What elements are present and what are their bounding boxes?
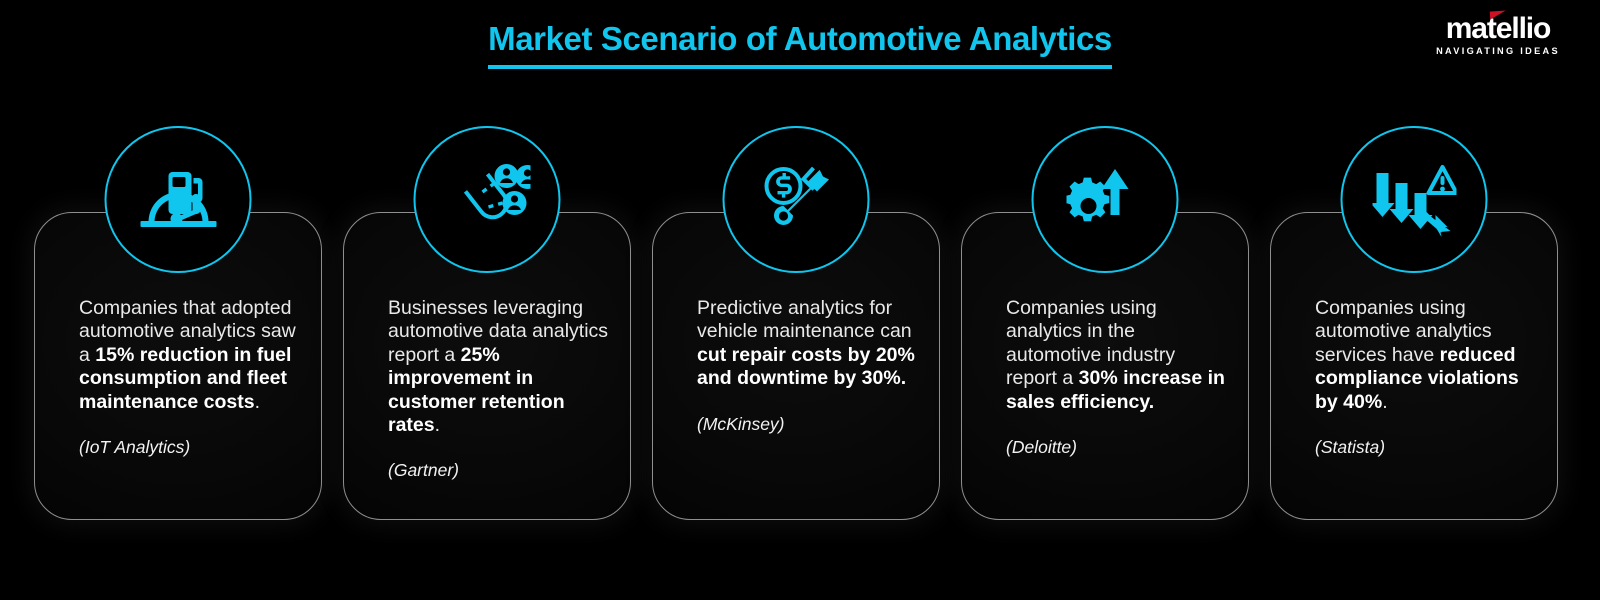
stat-source: (IoT Analytics) [79,437,301,458]
stat-card: Companies using automotive analytics ser… [1270,212,1558,520]
stat-text: Companies using analytics in the automot… [1006,297,1228,414]
stat-text: Businesses leveraging automotive data an… [388,297,610,437]
stat-card: Companies using analytics in the automot… [961,212,1249,520]
card-body: Businesses leveraging automotive data an… [388,297,610,481]
page-title: Market Scenario of Automotive Analytics [0,20,1600,69]
stat-card: Businesses leveraging automotive data an… [343,212,631,520]
logo-tagline: NAVIGATING IDEAS [1424,47,1572,56]
icon-badge [105,126,252,273]
page-title-text: Market Scenario of Automotive Analytics [488,20,1112,69]
stat-lead: Predictive analytics for vehicle mainten… [697,297,912,342]
stat-card-row: Companies that adopted automotive analyt… [34,212,1558,520]
stat-source: (Gartner) [388,460,610,481]
card-body: Predictive analytics for vehicle mainten… [697,297,919,435]
icon-badge [1341,126,1488,273]
wrench-dollar-icon [756,164,836,236]
stat-tail: . [1382,391,1387,413]
gear-hub [1080,198,1096,214]
stat-card: Predictive analytics for vehicle mainten… [652,212,940,520]
infographic-canvas: Market Scenario of Automotive Analytics … [0,0,1600,600]
red-flag-accent-icon [1489,10,1506,19]
icon-badge [1032,126,1179,273]
stat-card: Companies that adopted automotive analyt… [34,212,322,520]
logo-wordmark: matellio [1446,14,1551,44]
stat-text: Companies using automotive analytics ser… [1315,297,1537,414]
brand-logo: matellio NAVIGATING IDEAS [1424,14,1572,56]
stat-source: (Statista) [1315,437,1537,458]
card-body: Companies using automotive analytics ser… [1315,297,1537,458]
icon-badge [723,126,870,273]
stat-source: (Deloitte) [1006,437,1228,458]
stat-text: Companies that adopted automotive analyt… [79,297,301,414]
magnet-customers-icon [444,162,530,238]
icon-badge [414,126,561,273]
gear-growth-arrow-icon [1066,163,1144,237]
declining-bars-warning-icon [1372,163,1456,237]
fuel-pump-gauge-icon [136,164,220,236]
card-body: Companies using analytics in the automot… [1006,297,1228,458]
stat-tail: . [435,414,440,436]
stat-source: (McKinsey) [697,414,919,435]
stat-text: Predictive analytics for vehicle mainten… [697,297,919,391]
stat-highlight: cut repair costs by 20% and downtime by … [697,344,915,389]
card-body: Companies that adopted automotive analyt… [79,297,301,458]
stat-tail: . [255,391,260,413]
